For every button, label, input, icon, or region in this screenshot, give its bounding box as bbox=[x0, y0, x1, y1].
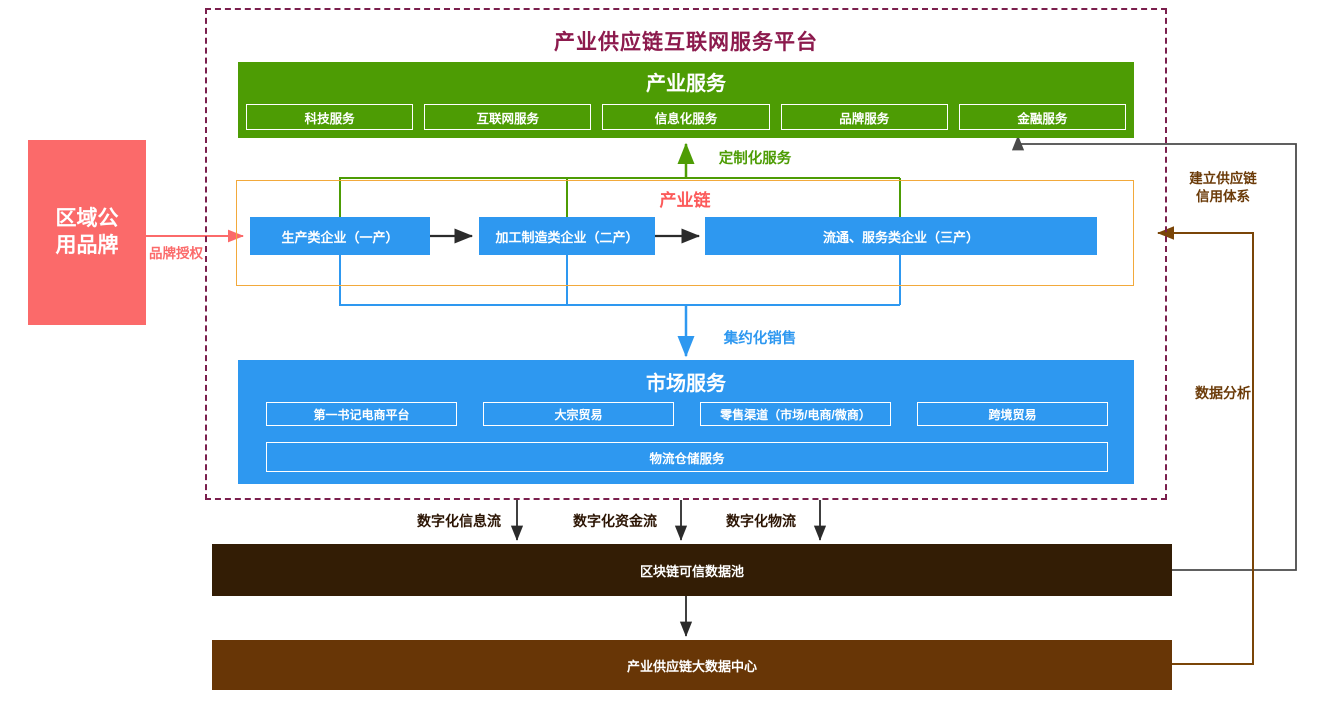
brand-authorization-label: 品牌授权 bbox=[130, 242, 222, 262]
regional-brand-label-line1: 区域公 bbox=[56, 206, 119, 233]
market-channel-0[interactable]: 第一书记电商平台 bbox=[266, 402, 457, 426]
industry-service-item-1[interactable]: 互联网服务 bbox=[424, 104, 591, 130]
digital-logistics-flow-label: 数字化物流 bbox=[706, 510, 816, 532]
market-service-channels: 第一书记电商平台 大宗贸易 零售渠道（市场/电商/微商） 跨境贸易 bbox=[266, 402, 1108, 426]
digital-info-flow-label: 数字化信息流 bbox=[404, 510, 514, 532]
digital-fund-flow-label: 数字化资金流 bbox=[560, 510, 670, 532]
intensive-sales-label: 集约化销售 bbox=[700, 326, 820, 348]
chain-node-secondary[interactable]: 加工制造类企业（二产） bbox=[479, 217, 655, 255]
market-channel-2[interactable]: 零售渠道（市场/电商/微商） bbox=[700, 402, 891, 426]
custom-service-label: 定制化服务 bbox=[693, 146, 817, 168]
industry-service-item-3[interactable]: 品牌服务 bbox=[781, 104, 948, 130]
logistics-warehouse-service[interactable]: 物流仓储服务 bbox=[266, 442, 1108, 472]
wire-data-analysis bbox=[1158, 233, 1253, 664]
industry-service-item-4[interactable]: 金融服务 bbox=[959, 104, 1126, 130]
industry-service-items: 科技服务 互联网服务 信息化服务 品牌服务 金融服务 bbox=[246, 104, 1126, 130]
chain-node-tertiary[interactable]: 流通、服务类企业（三产） bbox=[705, 217, 1097, 255]
blockchain-data-pool[interactable]: 区块链可信数据池 bbox=[212, 544, 1172, 596]
market-channel-3[interactable]: 跨境贸易 bbox=[917, 402, 1108, 426]
credit-system-label-line1: 建立供应链 bbox=[1189, 170, 1257, 188]
market-service-title: 市场服务 bbox=[238, 366, 1134, 396]
data-analysis-label: 数据分析 bbox=[1168, 382, 1278, 404]
regional-brand-label-line2: 用品牌 bbox=[56, 233, 119, 260]
industry-service-item-2[interactable]: 信息化服务 bbox=[602, 104, 769, 130]
market-channel-1[interactable]: 大宗贸易 bbox=[483, 402, 674, 426]
industry-big-data-center[interactable]: 产业供应链大数据中心 bbox=[212, 640, 1172, 690]
credit-system-label: 建立供应链 信用体系 bbox=[1168, 168, 1278, 208]
industry-service-item-0[interactable]: 科技服务 bbox=[246, 104, 413, 130]
regional-brand-box: 区域公 用品牌 bbox=[28, 140, 146, 325]
industry-service-title: 产业服务 bbox=[238, 66, 1134, 96]
chain-node-primary[interactable]: 生产类企业（一产） bbox=[250, 217, 430, 255]
industry-chain-title: 产业链 bbox=[236, 186, 1134, 210]
page-title: 产业供应链互联网服务平台 bbox=[205, 24, 1167, 58]
diagram-canvas: 产业供应链互联网服务平台 区域公 用品牌 品牌授权 产业服务 科技服务 互联网服… bbox=[0, 0, 1338, 714]
credit-system-label-line2: 信用体系 bbox=[1196, 188, 1250, 206]
